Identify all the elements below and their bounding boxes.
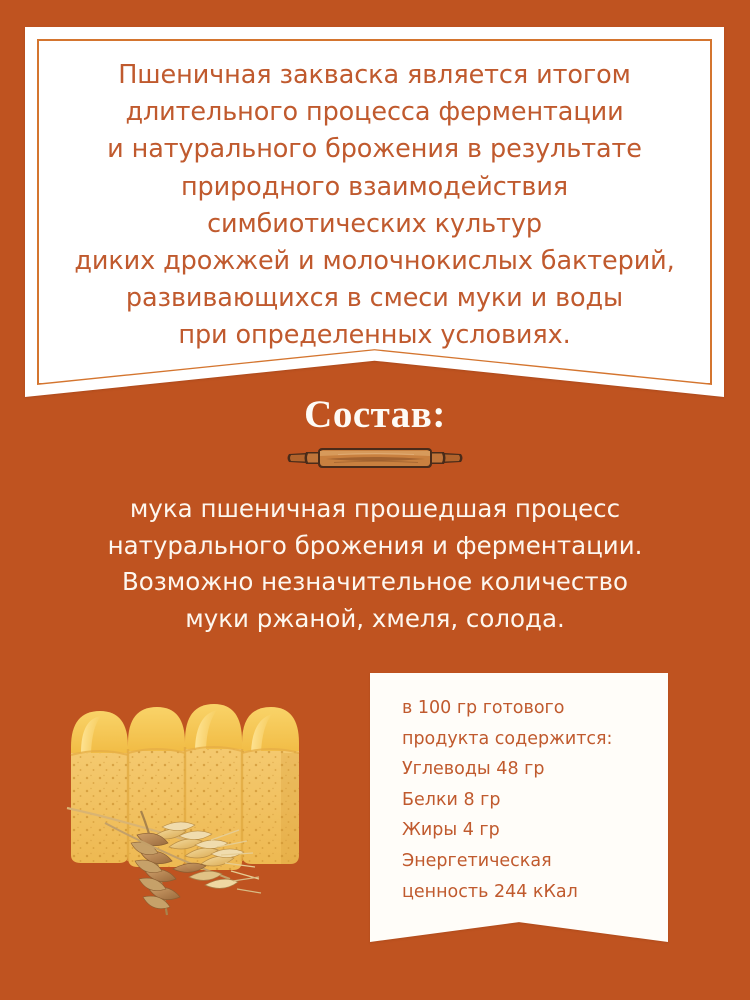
- bread-loaf-with-wheat-ears-illustration: [45, 683, 335, 923]
- nutrition-line-serving-2: продукта содержится:: [402, 724, 654, 755]
- nutrition-line-serving-1: в 100 гр готового: [402, 693, 654, 724]
- composition-heading: Состав:: [0, 392, 750, 437]
- intro-paragraph: Пшеничная закваска является итогом длите…: [53, 57, 696, 355]
- nutrition-line-fat: Жиры 4 гр: [402, 815, 654, 846]
- nutrition-line-energy-1: Энергетическая: [402, 846, 654, 877]
- product-label-poster: Пшеничная закваска является итогом длите…: [0, 0, 750, 1000]
- nutrition-panel: в 100 гр готового продукта содержится: У…: [370, 673, 668, 942]
- nutrition-facts-list: в 100 гр готового продукта содержится: У…: [402, 693, 654, 907]
- rolling-pin-icon: [286, 440, 464, 476]
- composition-paragraph: мука пшеничная прошедшая процесс натурал…: [40, 491, 710, 637]
- intro-banner: Пшеничная закваска является итогом длите…: [25, 27, 724, 397]
- nutrition-line-protein: Белки 8 гр: [402, 785, 654, 816]
- nutrition-line-carbs: Углеводы 48 гр: [402, 754, 654, 785]
- nutrition-line-energy-2: ценность 244 кКал: [402, 877, 654, 908]
